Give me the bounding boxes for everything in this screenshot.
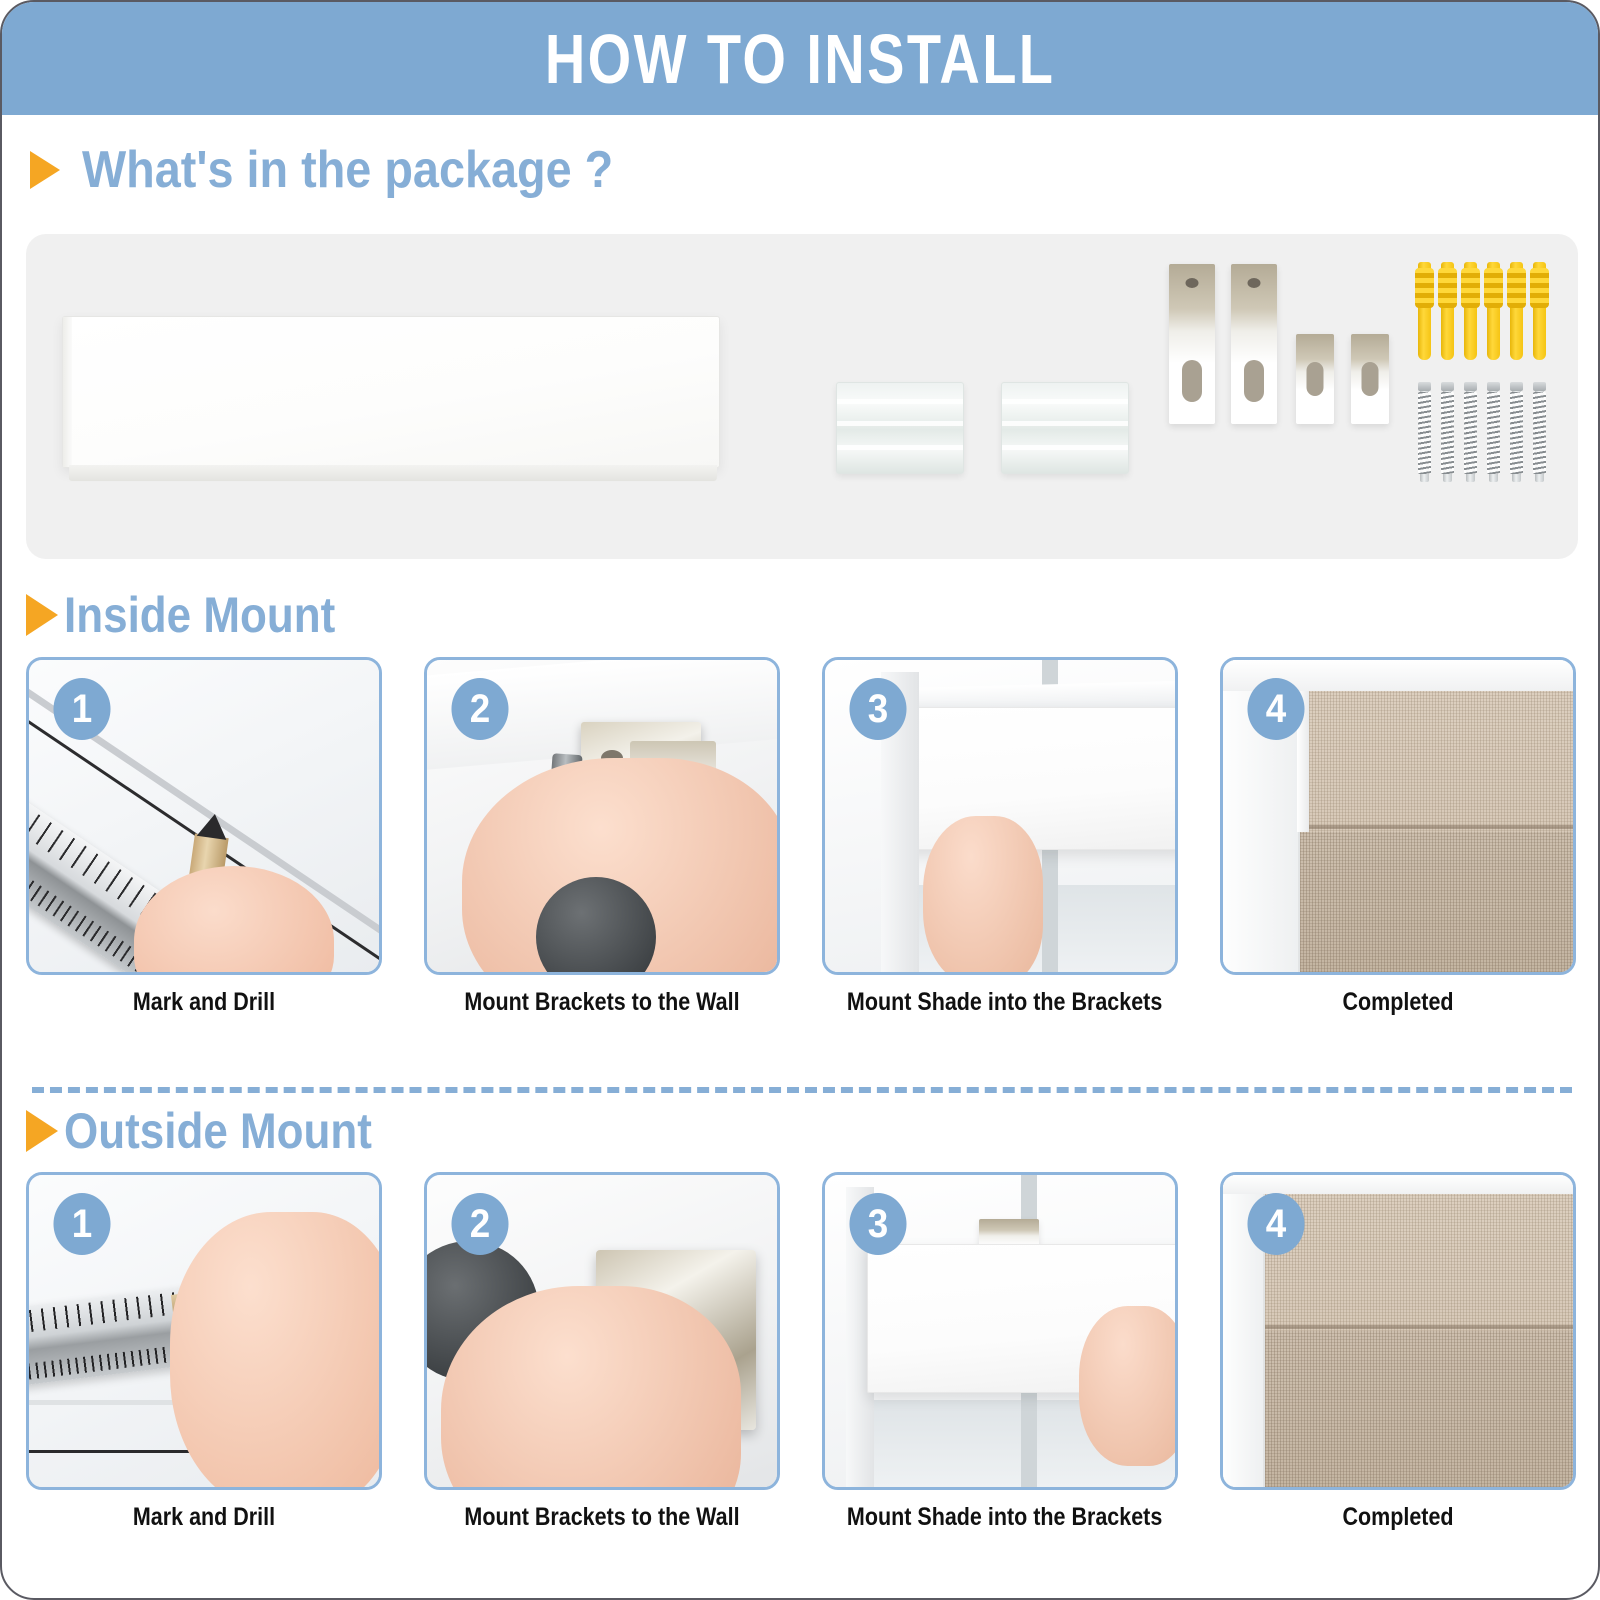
package-item-headrail-valance [62,316,720,468]
package-item-mounting-bracket-large [1169,264,1215,424]
step-number-badge: 4 [1247,1193,1304,1255]
package-contents-panel [26,234,1578,559]
package-section-heading: What's in the package ? [30,144,672,196]
step-card-inside-4[interactable]: 4 Completed [1220,657,1576,1017]
package-item-screw [1466,382,1475,482]
package-item-valance-clip [1001,382,1129,474]
step-card-outside-1[interactable]: 1 Mark and Drill [26,1172,382,1532]
outside-mount-label: Outside Mount [64,1106,372,1156]
package-item-mounting-bracket-small [1296,334,1334,424]
section-divider [32,1087,1572,1093]
package-item-mounting-bracket-small [1351,334,1389,424]
package-heading-label: What's in the package ? [82,144,613,196]
step-number-badge: 2 [451,1193,508,1255]
step-image-inside-1[interactable]: 1 [26,657,382,975]
step-caption: Completed [1245,1504,1551,1532]
outside-mount-heading: Outside Mount [26,1106,414,1156]
inside-mount-steps-row: 1 Mark and Drill 2 [26,657,1578,1047]
package-item-screw [1535,382,1544,482]
step-card-inside-2[interactable]: 2 Mount Brackets to the Wall [424,657,780,1017]
step-card-inside-1[interactable]: 1 Mark and Drill [26,657,382,1017]
step-image-outside-4[interactable]: 4 [1220,1172,1576,1490]
package-item-valance-clip [836,382,964,474]
how-to-install-infographic: HOW TO INSTALL What's in the package ? [0,0,1600,1600]
package-item-wall-anchor [1464,262,1477,360]
package-item-wall-anchor [1487,262,1500,360]
package-item-screw [1489,382,1498,482]
package-item-screw [1443,382,1452,482]
step-image-inside-2[interactable]: 2 [424,657,780,975]
step-caption: Mark and Drill [51,1504,357,1532]
package-item-screw [1420,382,1429,482]
triangle-right-icon [30,151,60,189]
step-card-outside-4[interactable]: 4 Completed [1220,1172,1576,1532]
step-image-inside-4[interactable]: 4 [1220,657,1576,975]
inside-mount-heading: Inside Mount [26,590,372,640]
step-image-outside-2[interactable]: 2 [424,1172,780,1490]
step-caption: Mount Brackets to the Wall [449,1504,755,1532]
step-number-badge: 4 [1247,678,1304,740]
step-image-outside-3[interactable]: 3 [822,1172,1178,1490]
package-item-wall-anchor [1418,262,1431,360]
triangle-right-icon [26,1110,58,1152]
step-caption: Mount Shade into the Brackets [847,989,1153,1017]
step-number-badge: 2 [451,678,508,740]
package-item-mounting-bracket-large [1231,264,1277,424]
package-item-wall-anchor [1441,262,1454,360]
package-item-wall-anchor [1510,262,1523,360]
step-image-outside-1[interactable]: 1 [26,1172,382,1490]
package-item-wall-anchor [1533,262,1546,360]
step-card-inside-3[interactable]: 3 Mount Shade into the Brackets [822,657,1178,1017]
triangle-right-icon [26,594,58,636]
step-number-badge: 1 [53,678,110,740]
package-item-screw [1512,382,1521,482]
step-number-badge: 1 [53,1193,110,1255]
inside-mount-label: Inside Mount [64,590,335,640]
step-caption: Mark and Drill [51,989,357,1017]
step-caption: Mount Brackets to the Wall [449,989,755,1017]
step-card-outside-3[interactable]: 3 Mount Shade into the Brackets [822,1172,1178,1532]
step-number-badge: 3 [849,678,906,740]
step-caption: Mount Shade into the Brackets [847,1504,1153,1532]
step-number-badge: 3 [849,1193,906,1255]
step-caption: Completed [1245,989,1551,1017]
page-title: HOW TO INSTALL [545,24,1056,94]
step-card-outside-2[interactable]: 2 Mount Brackets to the Wall [424,1172,780,1532]
outside-mount-steps-row: 1 Mark and Drill 2 [26,1172,1578,1562]
page-header-banner: HOW TO INSTALL [2,2,1598,115]
step-image-inside-3[interactable]: 3 [822,657,1178,975]
